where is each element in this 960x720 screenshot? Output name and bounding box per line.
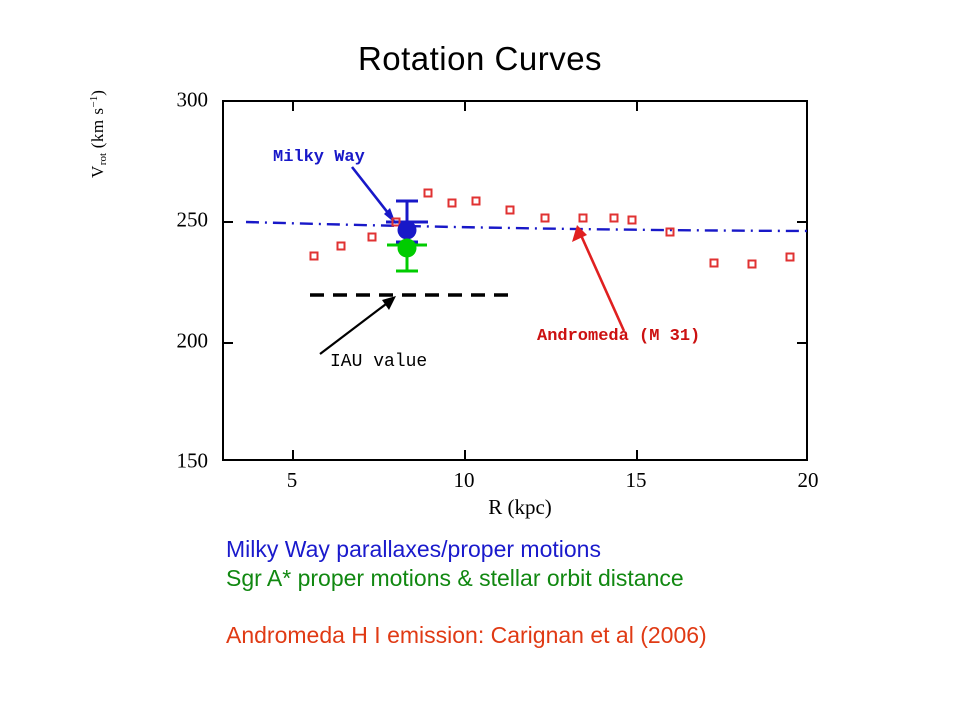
andromeda-point [666, 228, 675, 237]
x-tick-label-10: 10 [454, 468, 475, 493]
andromeda-point [368, 233, 377, 242]
page-title: Rotation Curves [0, 40, 960, 78]
andromeda-point [786, 253, 795, 262]
andromeda-point [579, 214, 588, 223]
andromeda-point [506, 206, 515, 215]
annotation-iau-value: IAU value [330, 352, 427, 372]
y-tick-label-200: 200 [177, 329, 209, 354]
andromeda-point [610, 214, 619, 223]
x-tick-label-5: 5 [287, 468, 298, 493]
y-axis-title-v: V [88, 165, 107, 178]
annotation-andromeda: Andromeda (M 31) [537, 327, 700, 346]
y-axis-title-sup: −1 [88, 96, 100, 108]
y-tick-label-150: 150 [177, 449, 209, 474]
sgr-a-point [398, 239, 417, 258]
y-axis-title-sub: rot [97, 153, 109, 165]
andromeda-point [748, 260, 757, 269]
legend-sgr-a: Sgr A* proper motions & stellar orbit di… [226, 565, 684, 592]
y-axis-title-close: ) [88, 90, 107, 96]
x-tick-label-20: 20 [798, 468, 819, 493]
milky-way-arrow [352, 167, 396, 224]
andromeda-point [628, 216, 637, 225]
y-axis-title: Vrot (km s−1) [88, 0, 109, 178]
andromeda-point [337, 242, 346, 251]
iau-arrow [320, 296, 396, 354]
x-axis-title: R (kpc) [0, 495, 960, 520]
y-tick-label-300: 300 [177, 88, 209, 113]
andromeda-point [310, 252, 319, 261]
andromeda-point [472, 197, 481, 206]
milky-way-point [398, 221, 417, 240]
andromeda-point [710, 259, 719, 268]
figure-canvas: Rotation Curves 300 250 200 150 5 10 15 … [0, 0, 960, 720]
annotation-milky-way: Milky Way [273, 148, 365, 167]
legend-andromeda: Andromeda H I emission: Carignan et al (… [226, 622, 707, 649]
andromeda-point [541, 214, 550, 223]
legend-milky-way: Milky Way parallaxes/proper motions [226, 536, 601, 563]
y-tick-label-250: 250 [177, 208, 209, 233]
y-axis-title-unit: (km s [88, 107, 107, 153]
milky-way-model-line [246, 222, 810, 231]
andromeda-point [424, 189, 433, 198]
x-tick-label-15: 15 [626, 468, 647, 493]
andromeda-arrow [572, 225, 624, 331]
andromeda-point [448, 199, 457, 208]
